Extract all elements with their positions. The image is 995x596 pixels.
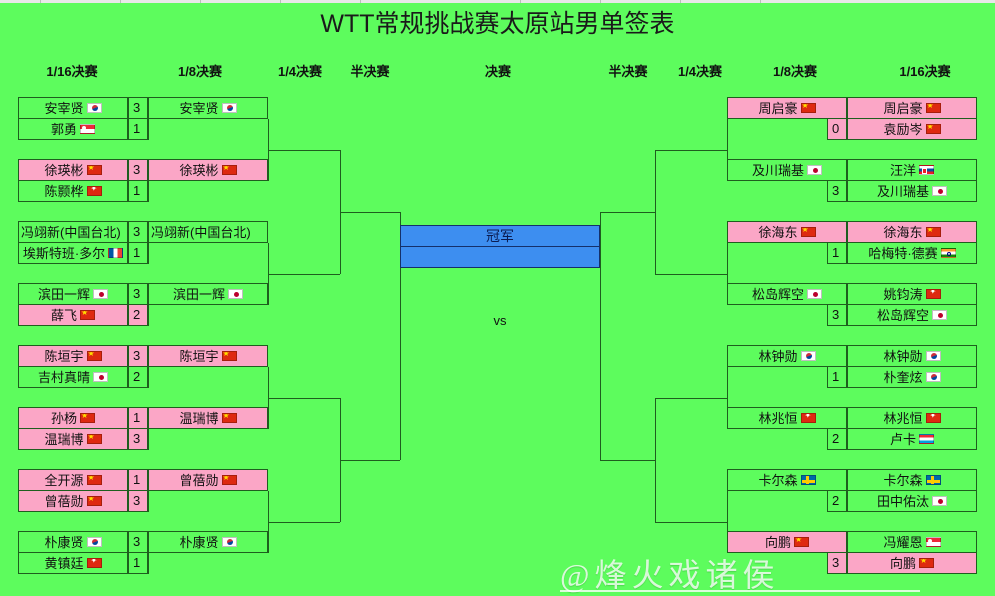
right-r16-player-1: 袁励岑 (847, 118, 977, 140)
player-name: 朴康贤 (179, 533, 218, 553)
left-r8-player-3: 滨田一辉 (148, 283, 268, 305)
round-label-0: 1/16决赛 (46, 61, 97, 80)
right-r8-player-4: 林钟勋 (727, 345, 847, 367)
flag-icon-jpn (932, 496, 947, 506)
player-name: 向鹏 (765, 533, 791, 553)
final-slot-box (400, 246, 600, 268)
score-value: 1 (832, 245, 839, 260)
score-value: 1 (133, 472, 140, 487)
score-value: 3 (133, 431, 140, 446)
player-name: 安宰贤 (44, 99, 83, 119)
player-name: 卢卡 (890, 430, 916, 450)
player-name: 冯翊新(中国台北) (21, 223, 121, 243)
left-r16-player-10: 孙杨 (18, 407, 128, 429)
score-value: 3 (133, 224, 140, 239)
player-name: 滨田一辉 (38, 285, 90, 305)
player-name: 孙杨 (51, 409, 77, 429)
score-value: 3 (832, 555, 839, 570)
flag-icon-chn (87, 496, 102, 506)
left-r16-player-2: 徐瑛彬 (18, 159, 128, 181)
flag-icon-chn (222, 413, 237, 423)
player-name: 及川瑞基 (877, 182, 929, 202)
flag-icon-chn (87, 475, 102, 485)
flag-icon-chn (919, 558, 934, 568)
flag-icon-kor (926, 351, 941, 361)
flag-icon-chn (794, 537, 809, 547)
window-top-strip (0, 0, 995, 3)
left-r16-score-14: 3 (128, 531, 148, 553)
flag-icon-hkg (801, 413, 816, 423)
flag-icon-chn (222, 475, 237, 485)
versus-label: vs (494, 313, 507, 328)
connector-h (600, 212, 655, 213)
player-name: 徐海东 (758, 223, 797, 243)
score-value: 3 (832, 183, 839, 198)
left-r16-player-6: 滨田一辉 (18, 283, 128, 305)
right-r16-score-9: 1 (827, 366, 847, 388)
player-name: 林钟勋 (758, 347, 797, 367)
flag-icon-hkg (87, 186, 102, 196)
right-r16-score-5: 1 (827, 242, 847, 264)
left-r16-score-13: 3 (128, 490, 148, 512)
flag-icon-chn (222, 351, 237, 361)
flag-icon-chn (926, 124, 941, 134)
score-value: 3 (133, 534, 140, 549)
left-r8-player-7: 朴康贤 (148, 531, 268, 553)
score-value: 1 (133, 245, 140, 260)
player-name: 及川瑞基 (752, 161, 804, 181)
connector-v (148, 367, 149, 388)
right-r16-player-5: 哈梅特·德赛 (847, 242, 977, 264)
connector-h (340, 212, 400, 213)
flag-icon-kor (222, 103, 237, 113)
score-value: 2 (133, 307, 140, 322)
score-value: 3 (133, 493, 140, 508)
flag-icon-hkg (926, 289, 941, 299)
player-name: 汪洋 (890, 161, 916, 181)
score-value: 1 (133, 183, 140, 198)
left-r8-player-2: 冯翊新(中国台北) (148, 221, 268, 243)
connector-v (148, 181, 149, 202)
flag-icon-lux (919, 434, 934, 444)
flag-icon-svk (919, 165, 934, 175)
right-r8-player-1: 及川瑞基 (727, 159, 847, 181)
left-r16-player-9: 吉村真晴 (18, 366, 128, 388)
left-r16-score-10: 1 (128, 407, 148, 429)
flag-icon-ind (941, 248, 956, 258)
right-r16-player-6: 姚钧涛 (847, 283, 977, 305)
right-r16-player-15: 向鹏 (847, 552, 977, 574)
flag-icon-chn (801, 103, 816, 113)
player-name: 周启豪 (883, 99, 922, 119)
flag-icon-chn (87, 434, 102, 444)
score-value: 3 (133, 162, 140, 177)
player-name: 林兆恒 (883, 409, 922, 429)
left-r16-score-9: 2 (128, 366, 148, 388)
right-r16-score-7: 3 (827, 304, 847, 326)
round-label-1: 1/8决赛 (178, 61, 222, 80)
left-r16-player-4: 冯翊新(中国台北) (18, 221, 128, 243)
left-r16-player-3: 陈颢桦 (18, 180, 128, 202)
round-label-7: 1/8决赛 (773, 61, 817, 80)
right-r8-player-0: 周启豪 (727, 97, 847, 119)
flag-icon-kor (87, 537, 102, 547)
flag-icon-chn (926, 227, 941, 237)
player-name: 温瑞博 (44, 430, 83, 450)
connector-h (655, 274, 727, 275)
right-r16-player-4: 徐海东 (847, 221, 977, 243)
right-r16-player-3: 及川瑞基 (847, 180, 977, 202)
connector-h (268, 274, 340, 275)
left-r16-score-6: 3 (128, 283, 148, 305)
connector-h (655, 398, 727, 399)
left-r16-player-5: 埃斯特班·多尔 (18, 242, 128, 264)
flag-icon-chn (926, 103, 941, 113)
flag-icon-hkg (87, 558, 102, 568)
player-name: 朴奎炫 (883, 368, 922, 388)
connector-v (655, 398, 656, 522)
player-name: 哈梅特·德赛 (868, 244, 937, 264)
player-name: 温瑞博 (179, 409, 218, 429)
flag-icon-sgp (926, 537, 941, 547)
right-r8-player-7: 向鹏 (727, 531, 847, 553)
flag-icon-jpn (93, 372, 108, 382)
round-label-6: 1/4决赛 (678, 61, 722, 80)
left-r16-score-7: 2 (128, 304, 148, 326)
flag-icon-chn (80, 413, 95, 423)
score-value: 1 (832, 369, 839, 384)
player-name: 卡尔森 (758, 471, 797, 491)
player-name: 姚钧涛 (883, 285, 922, 305)
right-r8-player-5: 林兆恒 (727, 407, 847, 429)
left-r16-player-11: 温瑞博 (18, 428, 128, 450)
connector-v (148, 119, 149, 140)
score-value: 3 (133, 286, 140, 301)
flag-icon-jpn (807, 289, 822, 299)
flag-icon-kor (926, 372, 941, 382)
connector-h (600, 460, 655, 461)
score-value: 2 (832, 493, 839, 508)
player-name: 卡尔森 (883, 471, 922, 491)
left-r8-player-5: 温瑞博 (148, 407, 268, 429)
player-name: 陈颢桦 (44, 182, 83, 202)
left-r16-score-4: 3 (128, 221, 148, 243)
player-name: 徐海东 (883, 223, 922, 243)
left-r16-player-1: 郭勇 (18, 118, 128, 140)
connector-v (600, 212, 601, 460)
left-r16-player-7: 薛飞 (18, 304, 128, 326)
player-name: 徐瑛彬 (179, 161, 218, 181)
flag-icon-kor (222, 537, 237, 547)
watermark-underline (560, 590, 920, 592)
right-r16-player-14: 冯耀恩 (847, 531, 977, 553)
score-value: 1 (133, 555, 140, 570)
player-name: 埃斯特班·多尔 (23, 244, 105, 264)
score-value: 3 (133, 100, 140, 115)
player-name: 松岛辉空 (752, 285, 804, 305)
player-name: 周启豪 (758, 99, 797, 119)
connector-h (268, 398, 340, 399)
right-r16-score-1: 0 (827, 118, 847, 140)
connector-v (148, 429, 149, 450)
player-name: 林兆恒 (758, 409, 797, 429)
page-title: WTT常规挑战赛太原站男单签表 (0, 4, 995, 40)
score-value: 0 (832, 121, 839, 136)
left-r8-player-6: 曾蓓勋 (148, 469, 268, 491)
left-r16-player-13: 曾蓓勋 (18, 490, 128, 512)
round-label-2: 1/4决赛 (278, 61, 322, 80)
left-r16-score-8: 3 (128, 345, 148, 367)
left-r16-score-15: 1 (128, 552, 148, 574)
player-name: 袁励岑 (883, 120, 922, 140)
flag-icon-jpn (807, 165, 822, 175)
right-r16-player-0: 周启豪 (847, 97, 977, 119)
flag-icon-chn (87, 351, 102, 361)
connector-h (655, 150, 727, 151)
connector-v (148, 243, 149, 264)
flag-icon-jpn (228, 289, 243, 299)
score-value: 2 (133, 369, 140, 384)
player-name: 田中佑汰 (877, 492, 929, 512)
round-label-8: 1/16决赛 (899, 61, 950, 80)
connector-v (148, 305, 149, 326)
connector-h (268, 522, 340, 523)
player-name: 徐瑛彬 (44, 161, 83, 181)
player-name: 陈垣宇 (44, 347, 83, 367)
player-name: 滨田一辉 (173, 285, 225, 305)
left-r8-player-4: 陈垣宇 (148, 345, 268, 367)
player-name: 薛飞 (51, 306, 77, 326)
connector-v (148, 553, 149, 574)
right-r16-player-11: 卢卡 (847, 428, 977, 450)
flag-icon-swe (801, 475, 816, 485)
left-r16-score-12: 1 (128, 469, 148, 491)
flag-icon-chn (87, 165, 102, 175)
player-name: 冯翊新(中国台北) (151, 223, 251, 243)
player-name: 吉村真晴 (38, 368, 90, 388)
left-r16-score-1: 1 (128, 118, 148, 140)
right-r16-player-10: 林兆恒 (847, 407, 977, 429)
player-name: 朴康贤 (44, 533, 83, 553)
left-r16-score-5: 1 (128, 242, 148, 264)
player-name: 曾蓓勋 (44, 492, 83, 512)
flag-icon-fra (108, 248, 123, 258)
left-r8-player-1: 徐瑛彬 (148, 159, 268, 181)
left-r16-score-0: 3 (128, 97, 148, 119)
right-r16-score-3: 3 (827, 180, 847, 202)
flag-icon-hkg (926, 413, 941, 423)
player-name: 全开源 (44, 471, 83, 491)
right-r16-player-8: 林钟勋 (847, 345, 977, 367)
connector-h (340, 460, 400, 461)
flag-icon-jpn (93, 289, 108, 299)
left-r16-player-0: 安宰贤 (18, 97, 128, 119)
left-r16-player-12: 全开源 (18, 469, 128, 491)
left-r16-score-3: 1 (128, 180, 148, 202)
flag-icon-chn (801, 227, 816, 237)
player-name: 冯耀恩 (883, 533, 922, 553)
right-r16-player-7: 松岛辉空 (847, 304, 977, 326)
right-r16-score-15: 3 (827, 552, 847, 574)
connector-v (655, 150, 656, 274)
flag-icon-jpn (932, 310, 947, 320)
player-name: 林钟勋 (883, 347, 922, 367)
score-value: 1 (133, 121, 140, 136)
flag-icon-kor (87, 103, 102, 113)
flag-icon-kor (801, 351, 816, 361)
flag-icon-chn (80, 310, 95, 320)
flag-icon-sgp (80, 124, 95, 134)
right-r8-player-3: 松岛辉空 (727, 283, 847, 305)
player-name: 黄镇廷 (44, 554, 83, 574)
flag-icon-jpn (932, 186, 947, 196)
flag-icon-swe (926, 475, 941, 485)
champion-box: 冠军 (400, 225, 600, 247)
player-name: 安宰贤 (179, 99, 218, 119)
left-r16-player-15: 黄镇廷 (18, 552, 128, 574)
player-name: 郭勇 (51, 120, 77, 140)
score-value: 2 (832, 431, 839, 446)
round-label-5: 半决赛 (608, 61, 647, 80)
right-r16-score-13: 2 (827, 490, 847, 512)
round-label-4: 决赛 (485, 61, 511, 80)
connector-h (655, 522, 727, 523)
score-value: 3 (832, 307, 839, 322)
left-r8-player-0: 安宰贤 (148, 97, 268, 119)
left-r16-score-11: 3 (128, 428, 148, 450)
score-value: 1 (133, 410, 140, 425)
left-r16-player-8: 陈垣宇 (18, 345, 128, 367)
left-r16-score-2: 3 (128, 159, 148, 181)
right-r16-player-2: 汪洋 (847, 159, 977, 181)
right-r16-player-12: 卡尔森 (847, 469, 977, 491)
score-value: 3 (133, 348, 140, 363)
connector-h (268, 150, 340, 151)
player-name: 陈垣宇 (179, 347, 218, 367)
player-name: 曾蓓勋 (179, 471, 218, 491)
connector-v (148, 491, 149, 512)
flag-icon-chn (222, 165, 237, 175)
right-r16-player-13: 田中佑汰 (847, 490, 977, 512)
right-r16-player-9: 朴奎炫 (847, 366, 977, 388)
right-r8-player-2: 徐海东 (727, 221, 847, 243)
player-name: 向鹏 (890, 554, 916, 574)
right-r8-player-6: 卡尔森 (727, 469, 847, 491)
right-r16-score-11: 2 (827, 428, 847, 450)
round-label-3: 半决赛 (350, 61, 389, 80)
left-r16-player-14: 朴康贤 (18, 531, 128, 553)
player-name: 松岛辉空 (877, 306, 929, 326)
